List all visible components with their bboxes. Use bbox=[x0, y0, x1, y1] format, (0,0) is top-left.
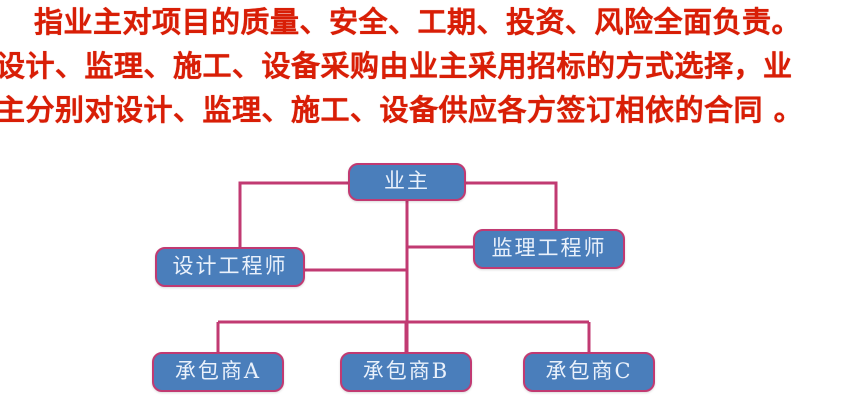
node-design-engineer-label: 设计工程师 bbox=[167, 255, 294, 278]
node-design-engineer[interactable]: 设计工程师 bbox=[155, 247, 305, 287]
connector-owner-to-design-drop bbox=[240, 183, 348, 247]
node-owner[interactable]: 业主 bbox=[348, 163, 466, 201]
heading-paragraph: 指业主对项目的质量、安全、工期、投资、风险全面负责。 设计、监理、施工、设备采购… bbox=[0, 0, 850, 140]
connector-owner-to-supervision-drop bbox=[466, 183, 556, 229]
heading-line-1: 指业主对项目的质量、安全、工期、投资、风险全面负责。 bbox=[34, 0, 801, 44]
node-supervision-engineer[interactable]: 监理工程师 bbox=[473, 229, 625, 269]
node-contractor-c[interactable]: 承包商C bbox=[523, 352, 655, 392]
node-owner-label: 业主 bbox=[378, 170, 436, 193]
heading-line-3: 主分别对设计、监理、施工、设备供应各方签订相依的合同 。 bbox=[0, 88, 803, 132]
node-contractor-b-label: 承包商B bbox=[357, 360, 455, 383]
node-contractor-a[interactable]: 承包商A bbox=[152, 352, 284, 392]
node-contractor-c-label: 承包商C bbox=[539, 360, 638, 383]
heading-line-2: 设计、监理、施工、设备采购由业主采用招标的方式选择，业 bbox=[0, 44, 793, 88]
node-contractor-b[interactable]: 承包商B bbox=[340, 352, 472, 392]
node-contractor-a-label: 承包商A bbox=[169, 360, 267, 383]
org-chart-diagram: 业主 设计工程师 监理工程师 承包商A 承包商B 承包商C bbox=[0, 140, 850, 412]
node-supervision-engineer-label: 监理工程师 bbox=[486, 237, 613, 260]
slide-page: 指业主对项目的质量、安全、工期、投资、风险全面负责。 设计、监理、施工、设备采购… bbox=[0, 0, 850, 412]
